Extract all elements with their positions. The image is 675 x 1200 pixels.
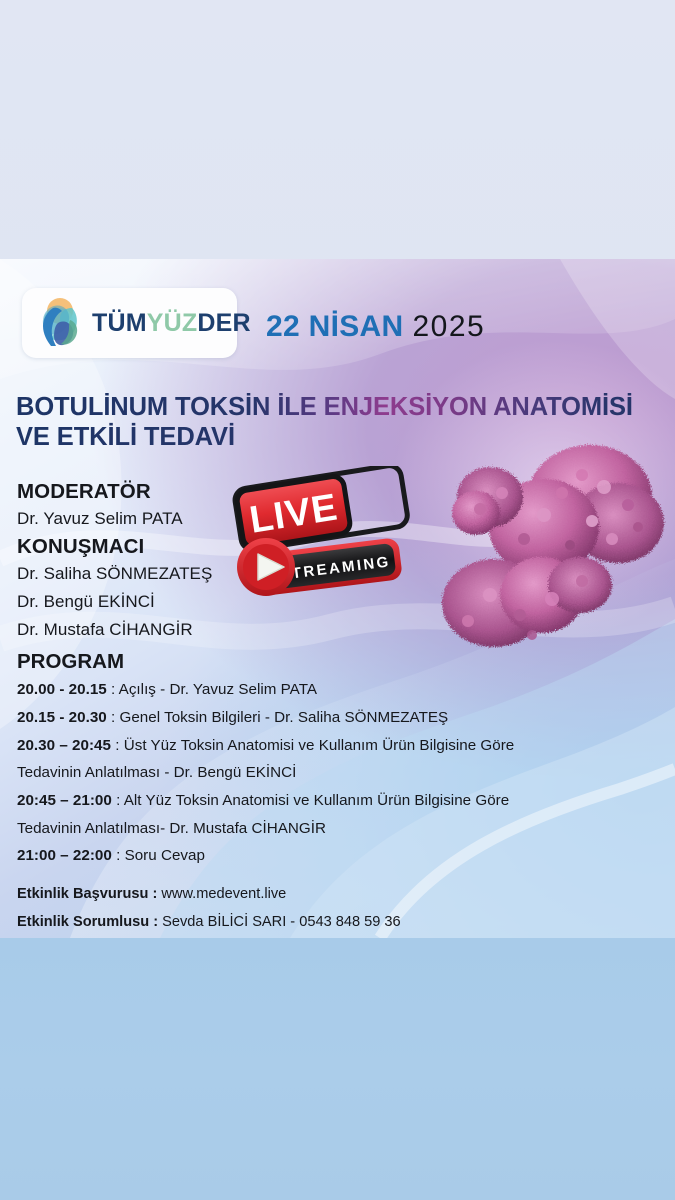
program-sep: :	[107, 681, 119, 698]
application-label: Etkinlik Başvurusu :	[17, 886, 157, 902]
poster-footer: Etkinlik Başvurusu : www.medevent.live E…	[17, 881, 637, 936]
tumyuzder-logo: TÜMYÜZDER	[22, 288, 237, 358]
moderator-name: Dr. Yavuz Selim PATA	[17, 505, 617, 533]
logo-wordmark: TÜMYÜZDER	[92, 311, 251, 336]
program-time: 20.15 - 20.30	[17, 709, 107, 726]
program-desc: Genel Toksin Bilgileri - Dr. Saliha SÖNM…	[120, 709, 449, 726]
program-desc: Üst Yüz Toksin Anatomisi ve Kullanım Ürü…	[124, 737, 515, 754]
program-row: Tedavinin Anlatılması- Dr. Mustafa CİHAN…	[17, 815, 617, 843]
program-row: 20:45 – 21:00 : Alt Yüz Toksin Anatomisi…	[17, 787, 617, 815]
event-poster: TÜMYÜZDER 22 NİSAN2025 BOTULİNUM TOKSİN …	[0, 259, 675, 938]
program-desc: Açılış - Dr. Yavuz Selim PATA	[119, 681, 317, 698]
program-row: 20.15 - 20.30 : Genel Toksin Bilgileri -…	[17, 704, 617, 732]
program-row: 20.30 – 20:45 : Üst Yüz Toksin Anatomisi…	[17, 732, 617, 760]
moderator-label: MODERATÖR	[17, 478, 617, 505]
poster-screen: TÜMYÜZDER 22 NİSAN2025 BOTULİNUM TOKSİN …	[0, 0, 675, 1200]
program-desc: Alt Yüz Toksin Anatomisi ve Kullanım Ürü…	[124, 792, 509, 809]
poster-body: MODERATÖR Dr. Yavuz Selim PATA KONUŞMACI…	[17, 478, 617, 870]
logo-word-der: DER	[197, 309, 250, 337]
contact-line: Etkinlik Sorumlusu : Sevda BİLİCİ SARI -…	[17, 909, 637, 937]
application-url[interactable]: www.medevent.live	[157, 886, 286, 902]
program-desc: Tedavinin Anlatılması - Dr. Bengü EKİNCİ	[17, 764, 296, 781]
speakers-label: KONUŞMACI	[17, 533, 617, 560]
program-time: 20.30 – 20:45	[17, 737, 111, 754]
program-sep: :	[111, 737, 124, 754]
program-row: Tedavinin Anlatılması - Dr. Bengü EKİNCİ	[17, 759, 617, 787]
event-date: 22 NİSAN2025	[266, 312, 485, 342]
application-line: Etkinlik Başvurusu : www.medevent.live	[17, 881, 637, 909]
program-time: 20.00 - 20.15	[17, 681, 107, 698]
event-date-year: 2025	[412, 310, 485, 343]
program-row: 21:00 – 22:00 : Soru Cevap	[17, 842, 617, 870]
program-desc: Tedavinin Anlatılması- Dr. Mustafa CİHAN…	[17, 820, 326, 837]
bottom-background-band	[0, 938, 675, 1200]
program-time: 20:45 – 21:00	[17, 792, 112, 809]
logo-word-tum: TÜM	[92, 309, 147, 337]
program-sep: :	[112, 847, 125, 864]
program-desc: Soru Cevap	[125, 847, 205, 864]
contact-value: Sevda BİLİCİ SARI - 0543 848 59 36	[158, 914, 401, 930]
program-label: PROGRAM	[17, 647, 617, 677]
logo-word-yuz: YÜZ	[147, 309, 198, 337]
event-date-day: 22 NİSAN	[266, 310, 403, 343]
program-time: 21:00 – 22:00	[17, 847, 112, 864]
program-row: 20.00 - 20.15 : Açılış - Dr. Yavuz Selim…	[17, 676, 617, 704]
speaker-name: Dr. Saliha SÖNMEZATEŞ	[17, 560, 617, 588]
speaker-name: Dr. Bengü EKİNCİ	[17, 588, 617, 616]
program-sep: :	[112, 792, 124, 809]
face-profile-icon	[34, 296, 86, 350]
program-sep: :	[107, 709, 120, 726]
speaker-name: Dr. Mustafa CİHANGİR	[17, 616, 617, 644]
contact-label: Etkinlik Sorumlusu :	[17, 914, 158, 930]
